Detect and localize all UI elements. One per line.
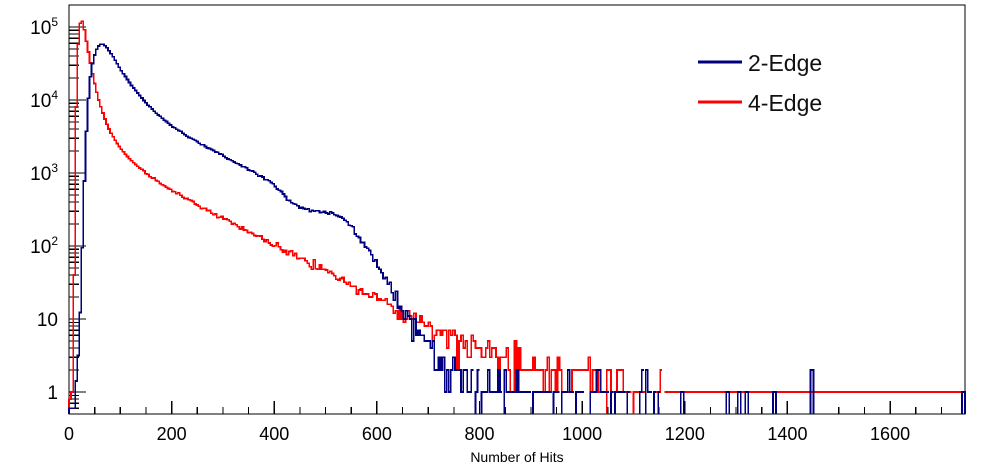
x-tick-label: 600: [362, 424, 392, 444]
tail-spike: [726, 392, 729, 414]
histogram-plot: 1101021031041050200400600800100012001400…: [0, 0, 996, 472]
x-tick-label: 1200: [665, 424, 705, 444]
x-axis-title: Number of Hits: [470, 449, 563, 465]
y-tick-label: 102: [30, 234, 58, 258]
y-tick-label: 1: [47, 383, 58, 404]
series-4-edge: [69, 21, 965, 414]
x-tick-label: 400: [259, 424, 289, 444]
legend-label-1: 2-Edge: [748, 50, 822, 76]
tail-spike: [738, 392, 741, 414]
series-line: [69, 44, 660, 414]
chart-canvas: 1101021031041050200400600800100012001400…: [0, 0, 996, 472]
tail-spike: [745, 392, 748, 414]
y-tick-label: 10: [37, 310, 58, 331]
y-tick-label: 105: [30, 15, 58, 39]
legend-label-2: 4-Edge: [748, 90, 822, 116]
tail-spike: [681, 392, 684, 414]
x-tick-label: 1000: [562, 424, 602, 444]
y-tick-label: 104: [30, 88, 58, 112]
y-tick-label: 103: [30, 161, 58, 185]
x-tick-label: 200: [157, 424, 187, 444]
tail-spike: [773, 392, 776, 414]
tail-spike: [962, 392, 965, 414]
x-tick-label: 1400: [767, 424, 807, 444]
x-tick-label: 800: [465, 424, 495, 444]
legend: 2-Edge4-Edge: [698, 50, 822, 116]
series-line: [69, 21, 666, 414]
x-tick-label: 0: [64, 424, 74, 444]
x-tick-label: 1600: [870, 424, 910, 444]
